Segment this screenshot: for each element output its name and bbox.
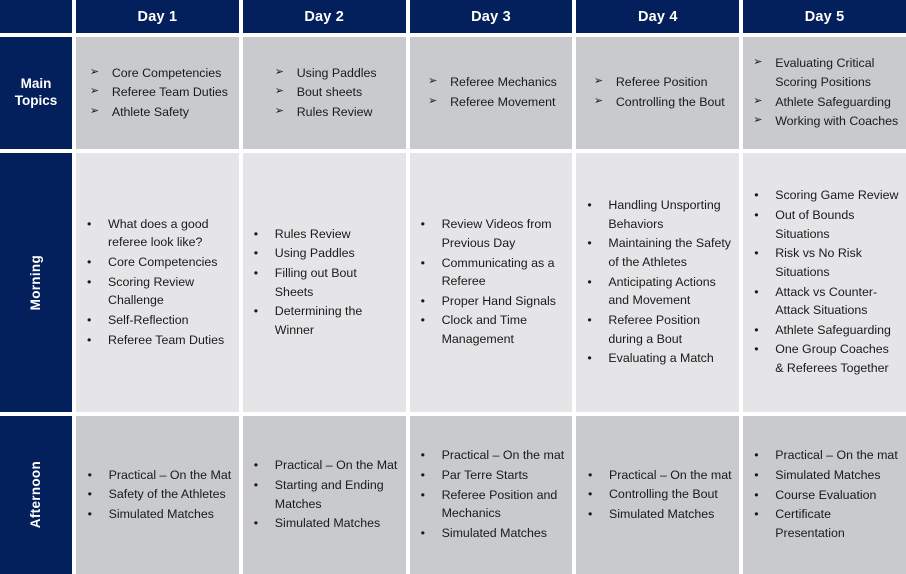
row-label-afternoon-text: Afternoon	[28, 461, 45, 528]
list-item-label: Practical – On the mat	[775, 448, 898, 462]
item-list: •Scoring Game Review•Out of Bounds Situa…	[750, 186, 899, 378]
table-row-afternoon: Afternoon •Practical – On the Mat•Safety…	[0, 416, 906, 574]
list-item: •Certificate Presentation	[750, 505, 899, 542]
bullet-dot-icon: •	[754, 446, 758, 465]
cell-main-topics-day-1: ➢Core Competencies➢Referee Team Duties➢A…	[76, 37, 239, 149]
list-item: •Handling Unsporting Behaviors	[583, 196, 732, 233]
list-item-label: Simulated Matches	[775, 468, 880, 482]
list-item: •Referee Position and Mechanics	[417, 486, 566, 523]
list-item-label: Simulated Matches	[609, 507, 714, 521]
list-item: •Clock and Time Management	[417, 311, 566, 348]
item-list: •Practical – On the Mat•Safety of the At…	[84, 466, 232, 525]
cell-morning-day-3: •Review Videos from Previous Day•Communi…	[410, 153, 573, 412]
bullet-dot-icon: •	[87, 331, 91, 350]
list-item: ➢Athlete Safety	[87, 103, 228, 122]
cell-afternoon-day-2: •Practical – On the Mat•Starting and End…	[243, 416, 406, 574]
item-list: ➢Core Competencies➢Referee Team Duties➢A…	[87, 64, 228, 123]
list-item: •Safety of the Athletes	[84, 485, 232, 504]
bullet-dot-icon: •	[254, 302, 258, 321]
list-item: •Out of Bounds Situations	[750, 206, 899, 243]
list-item-label: Rules Review	[275, 227, 351, 241]
list-item-label: Simulated Matches	[275, 516, 380, 530]
list-item-label: Controlling the Bout	[609, 487, 718, 501]
bullet-dot-icon: •	[754, 244, 758, 263]
list-item-label: Risk vs No Risk Situations	[775, 246, 862, 279]
item-list: •Practical – On the mat•Simulated Matche…	[750, 446, 899, 543]
item-list: ➢Referee Mechanics➢Referee Movement	[425, 73, 557, 112]
list-item: ➢Referee Position	[591, 73, 725, 92]
bullet-dot-icon: •	[87, 311, 91, 330]
bullet-dot-icon: •	[588, 466, 592, 485]
bullet-dot-icon: •	[587, 234, 591, 253]
list-item: •Athlete Safeguarding	[750, 321, 899, 340]
bullet-dot-icon: •	[754, 186, 758, 205]
bullet-dot-icon: •	[587, 196, 591, 215]
column-header-day-1: Day 1	[76, 0, 239, 33]
list-item-label: Using Paddles	[297, 66, 377, 80]
bullet-arrow-icon: ➢	[90, 83, 99, 100]
list-item: ➢Evaluating Critical Scoring Positions	[750, 54, 899, 91]
list-item: •Referee Team Duties	[83, 331, 232, 350]
list-item-label: Working with Coaches	[775, 114, 898, 128]
table-row-main-topics: Main Topics ➢Core Competencies➢Referee T…	[0, 37, 906, 149]
list-item-label: Evaluating a Match	[608, 351, 713, 365]
bullet-dot-icon: •	[254, 476, 258, 495]
cell-main-topics-day-2: ➢Using Paddles➢Bout sheets➢Rules Review	[243, 37, 406, 149]
list-item: •Simulated Matches	[417, 524, 566, 543]
bullet-dot-icon: •	[254, 456, 258, 475]
cell-main-topics-day-3: ➢Referee Mechanics➢Referee Movement	[410, 37, 573, 149]
list-item: •Practical – On the Mat	[250, 456, 399, 475]
bullet-dot-icon: •	[754, 340, 758, 359]
list-item-label: Bout sheets	[297, 85, 362, 99]
item-list: •Rules Review•Using Paddles•Filling out …	[250, 225, 399, 341]
cell-morning-day-2: •Rules Review•Using Paddles•Filling out …	[243, 153, 406, 412]
column-header-day-2: Day 2	[243, 0, 406, 33]
list-item: •Practical – On the Mat	[84, 466, 232, 485]
bullet-arrow-icon: ➢	[275, 64, 284, 81]
list-item-label: Proper Hand Signals	[442, 294, 556, 308]
list-item: •Practical – On the mat	[750, 446, 899, 465]
column-header-day-5: Day 5	[743, 0, 906, 33]
bullet-dot-icon: •	[88, 485, 92, 504]
list-item-label: Referee Position and Mechanics	[442, 488, 558, 521]
list-item-label: Practical – On the mat	[442, 448, 565, 462]
list-item: ➢Core Competencies	[87, 64, 228, 83]
list-item: •Referee Position during a Bout	[583, 311, 732, 348]
list-item-label: Course Evaluation	[775, 488, 876, 502]
bullet-dot-icon: •	[87, 273, 91, 292]
bullet-dot-icon: •	[421, 215, 425, 234]
list-item: ➢Athlete Safeguarding	[750, 93, 899, 112]
list-item-label: Maintaining the Safety of the Athletes	[608, 236, 731, 269]
list-item: •Attack vs Counter-Attack Situations	[750, 283, 899, 320]
bullet-arrow-icon: ➢	[753, 93, 762, 110]
list-item-label: Simulated Matches	[109, 507, 214, 521]
bullet-dot-icon: •	[421, 292, 425, 311]
list-item: ➢Referee Movement	[425, 93, 557, 112]
header-corner-cell	[0, 0, 72, 33]
list-item: •Scoring Review Challenge	[83, 273, 232, 310]
table-header-row: Day 1 Day 2 Day 3 Day 4 Day 5	[0, 0, 906, 33]
bullet-arrow-icon: ➢	[90, 64, 99, 81]
bullet-arrow-icon: ➢	[594, 93, 603, 110]
list-item: ➢Rules Review	[272, 103, 377, 122]
list-item-label: Clock and Time Management	[442, 313, 527, 346]
item-list: •Review Videos from Previous Day•Communi…	[417, 215, 566, 349]
item-list: ➢Using Paddles➢Bout sheets➢Rules Review	[272, 64, 377, 123]
list-item-label: Referee Team Duties	[108, 333, 224, 347]
list-item: •One Group Coaches & Referees Together	[750, 340, 899, 377]
training-schedule-table: Day 1 Day 2 Day 3 Day 4 Day 5 Main Topic…	[0, 0, 906, 570]
list-item-label: Core Competencies	[108, 255, 218, 269]
bullet-dot-icon: •	[587, 311, 591, 330]
cell-morning-day-1: •What does a good referee look like?•Cor…	[76, 153, 239, 412]
bullet-dot-icon: •	[254, 264, 258, 283]
cell-afternoon-day-5: •Practical – On the mat•Simulated Matche…	[743, 416, 906, 574]
item-list: •Practical – On the mat•Controlling the …	[584, 466, 732, 525]
list-item: •Course Evaluation	[750, 486, 899, 505]
cell-main-topics-day-4: ➢Referee Position➢Controlling the Bout	[576, 37, 739, 149]
list-item: •Simulated Matches	[84, 505, 232, 524]
list-item: •Communicating as a Referee	[417, 254, 566, 291]
bullet-dot-icon: •	[754, 321, 758, 340]
bullet-arrow-icon: ➢	[275, 103, 284, 120]
list-item-label: Review Videos from Previous Day	[442, 217, 552, 250]
list-item: ➢Bout sheets	[272, 83, 377, 102]
bullet-dot-icon: •	[87, 253, 91, 272]
list-item: •Filling out Bout Sheets	[250, 264, 399, 301]
list-item-label: Scoring Game Review	[775, 188, 898, 202]
list-item: •Rules Review	[250, 225, 399, 244]
list-item: •Practical – On the mat	[584, 466, 732, 485]
list-item-label: Anticipating Actions and Movement	[608, 275, 715, 308]
item-list: •Practical – On the mat•Par Terre Starts…	[417, 446, 566, 543]
bullet-dot-icon: •	[421, 486, 425, 505]
row-label-morning: Morning	[0, 153, 72, 412]
list-item-label: Using Paddles	[275, 246, 355, 260]
column-header-day-3: Day 3	[410, 0, 573, 33]
cell-afternoon-day-1: •Practical – On the Mat•Safety of the At…	[76, 416, 239, 574]
list-item: •Simulated Matches	[750, 466, 899, 485]
list-item: ➢Controlling the Bout	[591, 93, 725, 112]
cell-morning-day-5: •Scoring Game Review•Out of Bounds Situa…	[743, 153, 906, 412]
list-item-label: Referee Team Duties	[112, 85, 228, 99]
bullet-dot-icon: •	[587, 349, 591, 368]
list-item: ➢Working with Coaches	[750, 112, 899, 131]
list-item-label: Referee Position	[616, 75, 708, 89]
bullet-dot-icon: •	[421, 311, 425, 330]
item-list: ➢Referee Position➢Controlling the Bout	[591, 73, 725, 112]
list-item: ➢Using Paddles	[272, 64, 377, 83]
bullet-arrow-icon: ➢	[594, 73, 603, 90]
list-item-label: Handling Unsporting Behaviors	[608, 198, 720, 231]
list-item: •Using Paddles	[250, 244, 399, 263]
list-item-label: Practical – On the mat	[609, 468, 732, 482]
list-item: ➢Referee Team Duties	[87, 83, 228, 102]
list-item-label: Referee Position during a Bout	[608, 313, 700, 346]
item-list: •What does a good referee look like?•Cor…	[83, 215, 232, 350]
list-item-label: Par Terre Starts	[442, 468, 529, 482]
list-item-label: Core Competencies	[112, 66, 222, 80]
bullet-dot-icon: •	[754, 466, 758, 485]
list-item: •What does a good referee look like?	[83, 215, 232, 252]
list-item: •Determining the Winner	[250, 302, 399, 339]
row-label-main-topics: Main Topics	[0, 37, 72, 149]
list-item-label: One Group Coaches & Referees Together	[775, 342, 889, 375]
list-item: •Simulated Matches	[250, 514, 399, 533]
cell-morning-day-4: •Handling Unsporting Behaviors•Maintaini…	[576, 153, 739, 412]
bullet-dot-icon: •	[588, 505, 592, 524]
bullet-dot-icon: •	[421, 466, 425, 485]
bullet-dot-icon: •	[254, 514, 258, 533]
list-item: •Par Terre Starts	[417, 466, 566, 485]
list-item-label: Referee Mechanics	[450, 75, 557, 89]
bullet-dot-icon: •	[588, 485, 592, 504]
cell-afternoon-day-4: •Practical – On the mat•Controlling the …	[576, 416, 739, 574]
list-item: •Self-Reflection	[83, 311, 232, 330]
list-item-label: Practical – On the Mat	[275, 458, 398, 472]
list-item-label: Controlling the Bout	[616, 95, 725, 109]
list-item-label: What does a good referee look like?	[108, 217, 209, 250]
list-item-label: Safety of the Athletes	[109, 487, 226, 501]
list-item-label: Referee Movement	[450, 95, 555, 109]
cell-afternoon-day-3: •Practical – On the mat•Par Terre Starts…	[410, 416, 573, 574]
list-item: •Simulated Matches	[584, 505, 732, 524]
bullet-arrow-icon: ➢	[275, 83, 284, 100]
list-item: •Review Videos from Previous Day	[417, 215, 566, 252]
list-item: •Risk vs No Risk Situations	[750, 244, 899, 281]
list-item-label: Filling out Bout Sheets	[275, 266, 357, 299]
list-item-label: Simulated Matches	[442, 526, 547, 540]
bullet-dot-icon: •	[587, 273, 591, 292]
bullet-dot-icon: •	[88, 466, 92, 485]
bullet-dot-icon: •	[754, 486, 758, 505]
bullet-dot-icon: •	[754, 505, 758, 524]
bullet-dot-icon: •	[421, 524, 425, 543]
list-item: •Maintaining the Safety of the Athletes	[583, 234, 732, 271]
item-list: •Practical – On the Mat•Starting and End…	[250, 456, 399, 533]
bullet-dot-icon: •	[254, 225, 258, 244]
row-label-morning-text: Morning	[28, 255, 45, 310]
list-item-label: Athlete Safety	[112, 105, 189, 119]
list-item-label: Attack vs Counter-Attack Situations	[775, 285, 877, 318]
bullet-arrow-icon: ➢	[753, 112, 762, 129]
list-item: •Core Competencies	[83, 253, 232, 272]
table-row-morning: Morning •What does a good referee look l…	[0, 153, 906, 412]
item-list: ➢Evaluating Critical Scoring Positions➢A…	[750, 54, 899, 131]
list-item: •Controlling the Bout	[584, 485, 732, 504]
bullet-arrow-icon: ➢	[428, 93, 437, 110]
row-label-afternoon: Afternoon	[0, 416, 72, 574]
list-item: •Anticipating Actions and Movement	[583, 273, 732, 310]
bullet-arrow-icon: ➢	[753, 54, 762, 71]
bullet-dot-icon: •	[421, 446, 425, 465]
bullet-arrow-icon: ➢	[428, 73, 437, 90]
list-item-label: Scoring Review Challenge	[108, 275, 194, 308]
list-item-label: Self-Reflection	[108, 313, 189, 327]
list-item-label: Out of Bounds Situations	[775, 208, 854, 241]
bullet-dot-icon: •	[754, 206, 758, 225]
list-item: •Proper Hand Signals	[417, 292, 566, 311]
list-item-label: Athlete Safeguarding	[775, 95, 891, 109]
list-item-label: Evaluating Critical Scoring Positions	[775, 56, 874, 89]
list-item: ➢Referee Mechanics	[425, 73, 557, 92]
cell-main-topics-day-5: ➢Evaluating Critical Scoring Positions➢A…	[743, 37, 906, 149]
bullet-dot-icon: •	[87, 215, 91, 234]
list-item-label: Starting and Ending Matches	[275, 478, 384, 511]
list-item: •Evaluating a Match	[583, 349, 732, 368]
list-item-label: Rules Review	[297, 105, 373, 119]
list-item-label: Athlete Safeguarding	[775, 323, 891, 337]
list-item-label: Determining the Winner	[275, 304, 362, 337]
bullet-dot-icon: •	[421, 254, 425, 273]
list-item: •Scoring Game Review	[750, 186, 899, 205]
list-item: •Practical – On the mat	[417, 446, 566, 465]
bullet-arrow-icon: ➢	[90, 103, 99, 120]
list-item-label: Practical – On the Mat	[109, 468, 232, 482]
bullet-dot-icon: •	[254, 244, 258, 263]
bullet-dot-icon: •	[754, 283, 758, 302]
list-item-label: Communicating as a Referee	[442, 256, 555, 289]
column-header-day-4: Day 4	[576, 0, 739, 33]
item-list: •Handling Unsporting Behaviors•Maintaini…	[583, 196, 732, 368]
list-item-label: Certificate Presentation	[775, 507, 845, 540]
list-item: •Starting and Ending Matches	[250, 476, 399, 513]
bullet-dot-icon: •	[88, 505, 92, 524]
